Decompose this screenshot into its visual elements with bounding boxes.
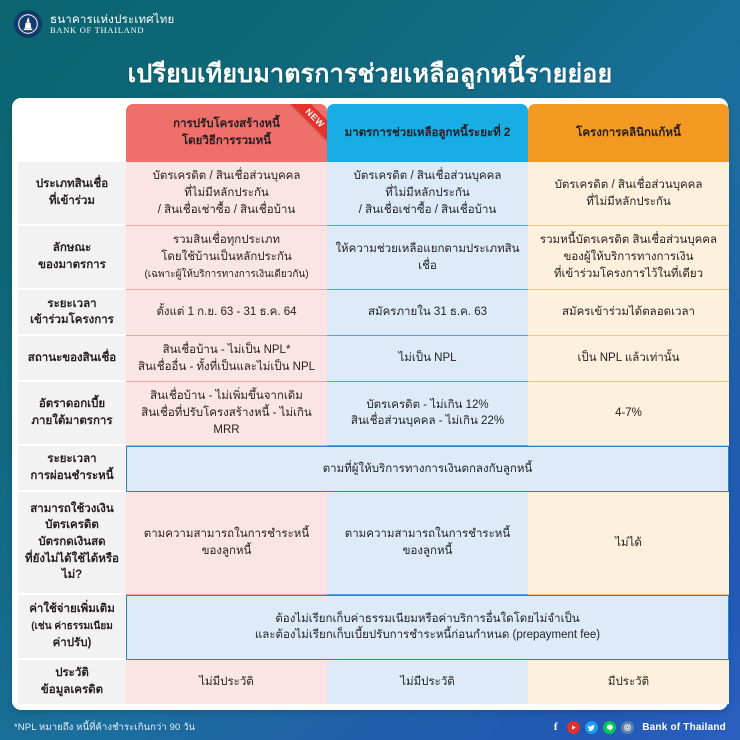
bot-seal-icon bbox=[14, 10, 42, 38]
cell-loan-status-consolidation: สินเชื่อบ้าน - ไม่เป็น NPL*สินเชื่ออื่น … bbox=[126, 336, 327, 381]
header-corner-blank bbox=[18, 104, 126, 162]
row-label-loan-types: ประเภทสินเชื่อที่เข้าร่วม bbox=[18, 162, 126, 226]
table-row: ระยะเวลาการผ่อนชำระหนี้ ตามที่ผู้ให้บริก… bbox=[18, 446, 729, 492]
twitter-icon[interactable] bbox=[585, 721, 598, 734]
cell-measure-nature-phase2: ให้ความช่วยเหลือแยกตามประเภทสินเชื่อ bbox=[327, 226, 528, 290]
facebook-icon[interactable]: f bbox=[549, 721, 562, 734]
new-badge-label: NEW bbox=[288, 104, 327, 145]
table-row: สามารถใช้วงเงินบัตรเครดิตบัตรกดเงินสดที่… bbox=[18, 492, 729, 595]
bot-logo: ธนาคารแห่งประเทศไทย BANK OF THAILAND bbox=[14, 10, 174, 38]
table-row: อัตราดอกเบี้ยภายใต้มาตรการ สินเชื่อบ้าน … bbox=[18, 382, 729, 446]
row-label-additional-fees: ค่าใช้จ่ายเพิ่มเติม(เช่น ค่าธรรมเนียมค่า… bbox=[18, 595, 126, 660]
cell-credit-history-consolidation: ไม่มีประวัติ bbox=[126, 660, 327, 704]
line-icon[interactable] bbox=[603, 721, 616, 734]
top-bar: ธนาคารแห่งประเทศไทย BANK OF THAILAND bbox=[0, 0, 740, 48]
cell-enrollment-period-clinic: สมัครเข้าร่วมได้ตลอดเวลา bbox=[528, 290, 729, 336]
comparison-card: การปรับโครงสร้างหนี้โดยวิธีการรวมหนี้ NE… bbox=[12, 98, 728, 710]
youtube-icon[interactable] bbox=[567, 721, 580, 734]
new-badge-ribbon: NEW bbox=[283, 104, 327, 148]
column-header-label: โครงการคลินิกแก้หนี้ bbox=[576, 127, 681, 139]
footnote-npl: *NPL หมายถึง หนี้ที่ค้างชำระเกินกว่า 90 … bbox=[14, 720, 195, 735]
instagram-icon[interactable] bbox=[621, 721, 634, 734]
row-label-enrollment-period: ระยะเวลาเข้าร่วมโครงการ bbox=[18, 290, 126, 336]
cell-loan-status-clinic: เป็น NPL แล้วเท่านั้น bbox=[528, 336, 729, 381]
column-header-phase2-measures[interactable]: มาตรการช่วยเหลือลูกหนี้ระยะที่ 2 bbox=[327, 104, 528, 162]
cell-unused-credit-line-consolidation: ตามความสามารถในการชำระหนี้ของลูกหนี้ bbox=[126, 492, 327, 595]
cell-interest-rate-clinic: 4-7% bbox=[528, 382, 729, 446]
table-row: ระยะเวลาเข้าร่วมโครงการ ตั้งแต่ 1 ก.ย. 6… bbox=[18, 290, 729, 336]
row-label-measure-nature: ลักษณะของมาตรการ bbox=[18, 226, 126, 290]
page-title: เปรียบเทียบมาตรการช่วยเหลือลูกหนี้รายย่อ… bbox=[0, 48, 740, 94]
table-row: สถานะของสินเชื่อ สินเชื่อบ้าน - ไม่เป็น … bbox=[18, 336, 729, 381]
cell-measure-nature-consolidation: รวมสินเชื่อทุกประเภทโดยใช้บ้านเป็นหลักปร… bbox=[126, 226, 327, 290]
table-row: ลักษณะของมาตรการ รวมสินเชื่อทุกประเภทโดย… bbox=[18, 226, 729, 290]
row-label-repayment-period: ระยะเวลาการผ่อนชำระหนี้ bbox=[18, 446, 126, 492]
cell-loan-types-consolidation: บัตรเครดิต / สินเชื่อส่วนบุคคลที่ไม่มีหล… bbox=[126, 162, 327, 226]
column-header-debt-clinic[interactable]: โครงการคลินิกแก้หนี้ bbox=[528, 104, 729, 162]
table-row: ประเภทสินเชื่อที่เข้าร่วม บัตรเครดิต / ส… bbox=[18, 162, 729, 226]
cell-measure-nature-clinic: รวมหนี้บัตรเครดิต สินเชื่อส่วนบุคคลของผู… bbox=[528, 226, 729, 290]
column-header-debt-consolidation[interactable]: การปรับโครงสร้างหนี้โดยวิธีการรวมหนี้ NE… bbox=[126, 104, 327, 162]
social-links: f Bank of Thailand bbox=[549, 721, 726, 734]
comparison-table: การปรับโครงสร้างหนี้โดยวิธีการรวมหนี้ NE… bbox=[18, 104, 729, 704]
cell-unused-credit-line-clinic: ไม่ได้ bbox=[528, 492, 729, 595]
cell-enrollment-period-consolidation: ตั้งแต่ 1 ก.ย. 63 - 31 ธ.ค. 64 bbox=[126, 290, 327, 336]
cell-unused-credit-line-phase2: ตามความสามารถในการชำระหนี้ของลูกหนี้ bbox=[327, 492, 528, 595]
table-row: ประวัติข้อมูลเครดิต ไม่มีประวัติ ไม่มีปร… bbox=[18, 660, 729, 704]
column-header-label: มาตรการช่วยเหลือลูกหนี้ระยะที่ 2 bbox=[345, 127, 511, 139]
row-label-loan-status: สถานะของสินเชื่อ bbox=[18, 336, 126, 381]
cell-repayment-period-all: ตามที่ผู้ให้บริการทางการเงินตกลงกับลูกหน… bbox=[126, 446, 729, 492]
org-name-en: BANK OF THAILAND bbox=[50, 26, 174, 35]
footer: *NPL หมายถึง หนี้ที่ค้างชำระเกินกว่า 90 … bbox=[0, 714, 740, 740]
cell-credit-history-clinic: มีประวัติ bbox=[528, 660, 729, 704]
cell-interest-rate-consolidation: สินเชื่อบ้าน - ไม่เพิ่มขึ้นจากเดิมสินเชื… bbox=[126, 382, 327, 446]
table-header-row: การปรับโครงสร้างหนี้โดยวิธีการรวมหนี้ NE… bbox=[18, 104, 729, 162]
cell-loan-status-phase2: ไม่เป็น NPL bbox=[327, 336, 528, 381]
row-label-unused-credit-line: สามารถใช้วงเงินบัตรเครดิตบัตรกดเงินสดที่… bbox=[18, 492, 126, 595]
cell-loan-types-phase2: บัตรเครดิต / สินเชื่อส่วนบุคคลที่ไม่มีหล… bbox=[327, 162, 528, 226]
cell-additional-fees-all: ต้องไม่เรียกเก็บค่าธรรมเนียมหรือค่าบริกา… bbox=[126, 595, 729, 660]
row-label-interest-rate: อัตราดอกเบี้ยภายใต้มาตรการ bbox=[18, 382, 126, 446]
table-row: ค่าใช้จ่ายเพิ่มเติม(เช่น ค่าธรรมเนียมค่า… bbox=[18, 595, 729, 660]
cell-interest-rate-phase2: บัตรเครดิต - ไม่เกิน 12%สินเชื่อส่วนบุคค… bbox=[327, 382, 528, 446]
cell-enrollment-period-phase2: สมัครภายใน 31 ธ.ค. 63 bbox=[327, 290, 528, 336]
cell-loan-types-clinic: บัตรเครดิต / สินเชื่อส่วนบุคคลที่ไม่มีหล… bbox=[528, 162, 729, 226]
row-label-credit-history: ประวัติข้อมูลเครดิต bbox=[18, 660, 126, 704]
org-name-th: ธนาคารแห่งประเทศไทย bbox=[50, 14, 174, 26]
brand-name: Bank of Thailand bbox=[642, 722, 726, 733]
cell-credit-history-phase2: ไม่มีประวัติ bbox=[327, 660, 528, 704]
column-header-label: การปรับโครงสร้างหนี้โดยวิธีการรวมหนี้ bbox=[173, 118, 280, 147]
